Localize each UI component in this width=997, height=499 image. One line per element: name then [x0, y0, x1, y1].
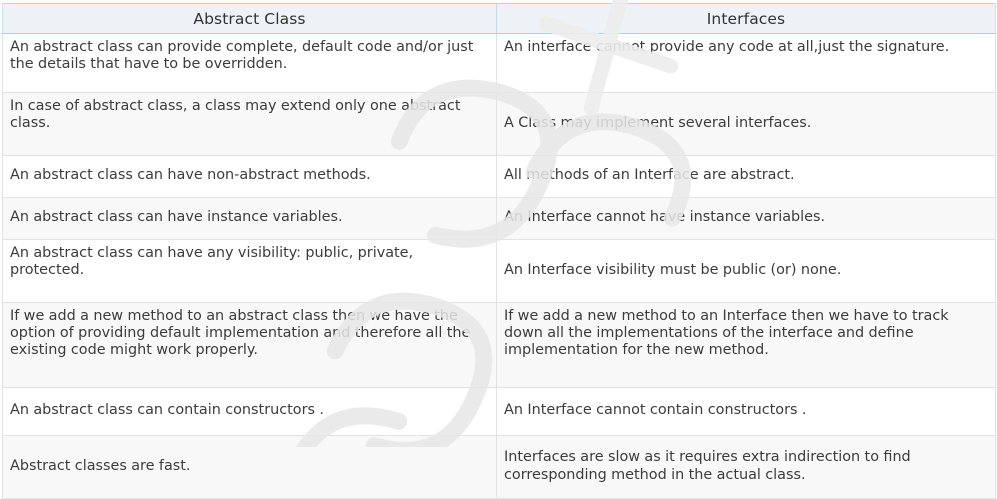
cell-text: An Interface cannot have instance variab… — [504, 209, 988, 226]
cell-abstract-class: An abstract class can contain constructo… — [3, 388, 497, 436]
cell-abstract-class: If we add a new method to an abstract cl… — [3, 303, 497, 388]
cell-abstract-class: Abstract classes are fast. — [3, 436, 497, 499]
cell-interfaces: Interfaces are slow as it requires extra… — [497, 436, 996, 499]
cell-abstract-class: An abstract class can provide complete, … — [3, 34, 497, 93]
column-header-abstract-class: Abstract Class — [3, 4, 497, 34]
cell-abstract-class: An abstract class can have non-abstract … — [3, 156, 497, 198]
cell-text: Interfaces are slow as it requires extra… — [504, 449, 988, 483]
table-row: Abstract classes are fast. Interfaces ar… — [3, 436, 996, 499]
cell-text: If we add a new method to an Interface t… — [504, 308, 988, 359]
comparison-table: Abstract Class Interfaces An abstract cl… — [2, 3, 996, 499]
cell-text: All methods of an Interface are abstract… — [504, 167, 988, 184]
table-row: In case of abstract class, a class may e… — [3, 93, 996, 156]
cell-abstract-class: An abstract class can have instance vari… — [3, 198, 497, 240]
table-row: An abstract class can have instance vari… — [3, 198, 996, 240]
table-body: An abstract class can provide complete, … — [3, 34, 996, 499]
cell-interfaces: If we add a new method to an Interface t… — [497, 303, 996, 388]
cell-text: If we add a new method to an abstract cl… — [10, 308, 489, 359]
cell-interfaces: An Interface cannot have instance variab… — [497, 198, 996, 240]
cell-text: A Class may implement several interfaces… — [504, 115, 988, 132]
cell-text: An abstract class can have any visibilit… — [10, 245, 489, 279]
cell-text: An Interface visibility must be public (… — [504, 262, 988, 279]
cell-abstract-class: In case of abstract class, a class may e… — [3, 93, 497, 156]
cell-interfaces: An Interface cannot contain constructors… — [497, 388, 996, 436]
table-header: Abstract Class Interfaces — [3, 4, 996, 34]
cell-text: In case of abstract class, a class may e… — [10, 98, 489, 132]
table-header-row: Abstract Class Interfaces — [3, 4, 996, 34]
table-row: An abstract class can have non-abstract … — [3, 156, 996, 198]
cell-interfaces: An Interface visibility must be public (… — [497, 240, 996, 303]
table-row: An abstract class can have any visibilit… — [3, 240, 996, 303]
cell-text: An abstract class can have non-abstract … — [10, 167, 489, 184]
cell-text: An interface cannot provide any code at … — [504, 39, 988, 56]
cell-interfaces: A Class may implement several interfaces… — [497, 93, 996, 156]
table-row: An abstract class can provide complete, … — [3, 34, 996, 93]
comparison-table-container: Abstract Class Interfaces An abstract cl… — [0, 0, 997, 447]
cell-text: Abstract classes are fast. — [10, 458, 489, 475]
cell-text: An abstract class can provide complete, … — [10, 39, 489, 73]
table-row: An abstract class can contain constructo… — [3, 388, 996, 436]
cell-interfaces: An interface cannot provide any code at … — [497, 34, 996, 93]
cell-text: An Interface cannot contain constructors… — [504, 402, 988, 419]
table-row: If we add a new method to an abstract cl… — [3, 303, 996, 388]
cell-text: An abstract class can have instance vari… — [10, 209, 489, 226]
column-header-interfaces: Interfaces — [497, 4, 996, 34]
cell-interfaces: All methods of an Interface are abstract… — [497, 156, 996, 198]
cell-abstract-class: An abstract class can have any visibilit… — [3, 240, 497, 303]
cell-text: An abstract class can contain constructo… — [10, 402, 489, 419]
